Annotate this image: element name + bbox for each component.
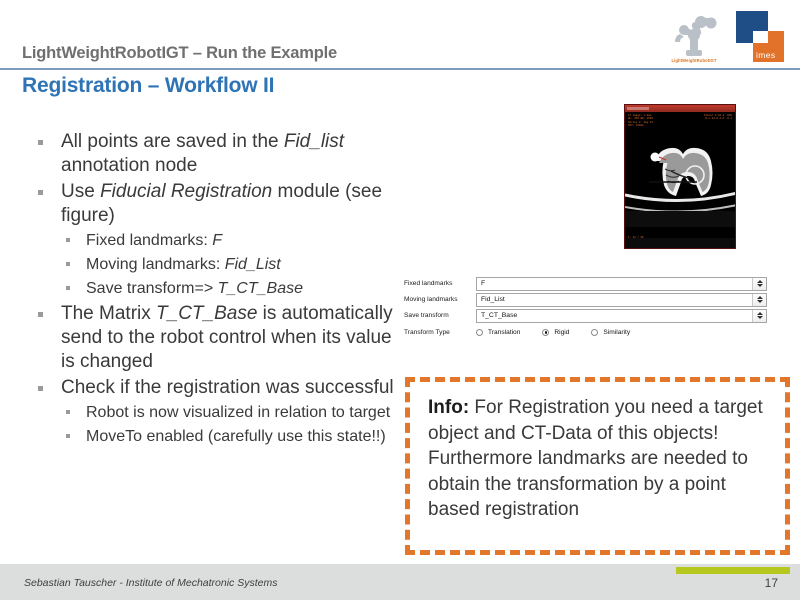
- form-row-transform-type: Transform Type Translation Rigid Similar…: [404, 325, 767, 340]
- radio-option-similarity[interactable]: Similarity: [591, 329, 630, 336]
- radio-rigid-label: Rigid: [554, 329, 569, 336]
- chevron-down-icon: [757, 316, 763, 319]
- bullet-marker-icon: [38, 190, 43, 195]
- bullet-span: MoveTo enabled (carefully use this state…: [86, 428, 386, 445]
- save-transform-label: Save transform: [404, 312, 476, 319]
- bullet-emphasis: T_CT_Base: [218, 280, 303, 297]
- robot-arm-icon: [666, 10, 722, 58]
- imes-logo-wordmark: imes: [756, 50, 776, 60]
- chevron-up-icon: [757, 296, 763, 299]
- bullet-list: All points are saved in the Fid_list ann…: [38, 130, 410, 450]
- bullet-marker-icon: [38, 140, 43, 145]
- bullet-item: Moving landmarks: Fid_List: [38, 254, 410, 276]
- ct-viewer-statusbar: [625, 238, 735, 248]
- page-number: 17: [765, 576, 778, 590]
- bullet-span: Save transform=>: [86, 280, 218, 297]
- bullet-item: MoveTo enabled (carefully use this state…: [38, 426, 410, 448]
- bullet-marker-icon: [38, 312, 43, 317]
- chevron-up-icon: [757, 280, 763, 283]
- footer-accent-bar: [676, 567, 790, 574]
- chevron-down-icon: [757, 300, 763, 303]
- bullet-marker-icon: [66, 238, 70, 242]
- bullet-item: Fixed landmarks: F: [38, 230, 410, 252]
- page-title: Registration – Workflow II: [22, 74, 274, 98]
- ct-viewer-titlebar: [625, 105, 735, 112]
- bullet-item: Save transform=> T_CT_Base: [38, 278, 410, 300]
- bullet-span: Robot is now visualized in relation to t…: [86, 404, 390, 421]
- bullet-text: Use Fiducial Registration module (see fi…: [61, 180, 410, 228]
- radio-option-translation[interactable]: Translation: [476, 329, 520, 336]
- bullet-item: Robot is now visualized in relation to t…: [38, 402, 410, 424]
- slide-canvas: LightWeightRobotIGT – Run the Example Re…: [0, 0, 800, 600]
- chevron-down-icon: [757, 284, 763, 287]
- logo-group: LightWeightRobotIGT imes: [656, 8, 786, 70]
- transform-type-label: Transform Type: [404, 329, 476, 336]
- header-eyebrow-title: LightWeightRobotIGT – Run the Example: [22, 44, 337, 63]
- fixed-landmarks-select[interactable]: F: [476, 277, 767, 291]
- robot-logo-label: LightWeightRobotIGT: [656, 58, 732, 63]
- ct-slice-image: [625, 127, 736, 227]
- bullet-marker-icon: [66, 410, 70, 414]
- bullet-item: Use Fiducial Registration module (see fi…: [38, 180, 410, 228]
- bullet-emphasis: Fid_List: [225, 256, 281, 273]
- ct-viewer-figure: CT image: 1.0mm WL: 350 WW: 1500 Series …: [624, 104, 736, 249]
- fiducial-registration-form: Fixed landmarks F Moving landmarks Fid_L…: [404, 276, 767, 340]
- bullet-marker-icon: [66, 434, 70, 438]
- bullet-span: Moving landmarks:: [86, 256, 225, 273]
- bullet-span: All points are saved in the: [61, 131, 284, 152]
- radio-option-rigid[interactable]: Rigid: [542, 329, 569, 336]
- bullet-emphasis: T_CT_Base: [156, 303, 257, 324]
- radio-translation-label: Translation: [488, 329, 520, 336]
- bullet-marker-icon: [38, 386, 43, 391]
- radio-similarity-label: Similarity: [603, 329, 630, 336]
- save-transform-spinner-icon[interactable]: [752, 310, 766, 322]
- bullet-text: Fixed landmarks: F: [86, 230, 222, 252]
- bullet-span: The Matrix: [61, 303, 156, 324]
- info-callout-text: Info: For Registration you need a target…: [428, 395, 768, 523]
- bullet-text: Save transform=> T_CT_Base: [86, 278, 303, 300]
- bullet-text: All points are saved in the Fid_list ann…: [61, 130, 410, 178]
- bullet-marker-icon: [66, 262, 70, 266]
- form-row-moving-landmarks: Moving landmarks Fid_List: [404, 292, 767, 307]
- save-transform-value: T_CT_Base: [477, 312, 517, 319]
- footer-author-line: Sebastian Tauscher - Institute of Mechat…: [24, 577, 277, 589]
- bullet-item: All points are saved in the Fid_list ann…: [38, 130, 410, 178]
- fixed-landmarks-spinner-icon[interactable]: [752, 278, 766, 290]
- info-callout-box: Info: For Registration you need a target…: [405, 377, 790, 555]
- bullet-text: Moving landmarks: Fid_List: [86, 254, 281, 276]
- form-row-fixed-landmarks: Fixed landmarks F: [404, 276, 767, 291]
- radio-translation-icon[interactable]: [476, 329, 483, 336]
- imes-logo: imes: [736, 11, 784, 67]
- bullet-text: MoveTo enabled (carefully use this state…: [86, 426, 386, 448]
- bullet-text: Robot is now visualized in relation to t…: [86, 402, 390, 424]
- bullet-emphasis: Fiducial Registration: [100, 181, 272, 202]
- radio-rigid-icon[interactable]: [542, 329, 549, 336]
- bullet-text: The Matrix T_CT_Base is automatically se…: [61, 302, 410, 374]
- ct-annotation-top-right: Slicer 4.10.2 RAS R-L 24.8 A-P -6.1: [704, 114, 732, 121]
- bullet-span: annotation node: [61, 155, 197, 176]
- moving-landmarks-spinner-icon[interactable]: [752, 294, 766, 306]
- save-transform-select[interactable]: T_CT_Base: [476, 309, 767, 323]
- info-callout-prefix: Info:: [428, 397, 469, 418]
- bullet-span: Check if the registration was successful: [61, 377, 394, 398]
- imes-logo-notch: [753, 31, 768, 43]
- ct-titlebar-text: [627, 107, 649, 110]
- bullet-marker-icon: [66, 286, 70, 290]
- fixed-landmarks-value: F: [477, 280, 485, 287]
- bullet-item: The Matrix T_CT_Base is automatically se…: [38, 302, 410, 374]
- info-callout-body: For Registration you need a target objec…: [428, 397, 763, 520]
- bullet-item: Check if the registration was successful: [38, 376, 410, 400]
- form-row-save-transform: Save transform T_CT_Base: [404, 308, 767, 323]
- bullet-emphasis: Fid_list: [284, 131, 344, 152]
- bullet-span: Use: [61, 181, 100, 202]
- fixed-landmarks-label: Fixed landmarks: [404, 280, 476, 287]
- bullet-emphasis: F: [212, 232, 222, 249]
- radio-similarity-icon[interactable]: [591, 329, 598, 336]
- bullet-span: Fixed landmarks:: [86, 232, 212, 249]
- bullet-text: Check if the registration was successful: [61, 376, 394, 400]
- chevron-up-icon: [757, 312, 763, 315]
- moving-landmarks-label: Moving landmarks: [404, 296, 476, 303]
- moving-landmarks-value: Fid_List: [477, 296, 505, 303]
- moving-landmarks-select[interactable]: Fid_List: [476, 293, 767, 307]
